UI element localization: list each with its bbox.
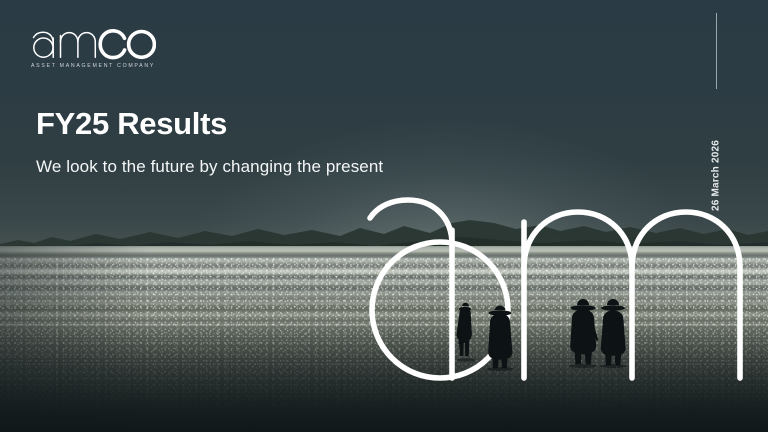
presentation-date: 26 March 2026	[711, 140, 722, 211]
figure-3	[569, 299, 598, 368]
page-title: FY25 Results	[36, 106, 227, 142]
figure-1	[457, 303, 475, 362]
amco-logo[interactable]: ASSET MANAGEMENT COMPANY	[31, 27, 156, 69]
amco-wordmark	[31, 27, 156, 61]
vertical-divider	[716, 13, 717, 89]
presentation-title-slide: ASSET MANAGEMENT COMPANY FY25 Results We…	[0, 0, 768, 432]
amco-logo-tagline: ASSET MANAGEMENT COMPANY	[31, 63, 156, 69]
figure-2	[487, 305, 513, 370]
figure-4	[600, 299, 627, 368]
page-subtitle: We look to the future by changing the pr…	[36, 157, 383, 177]
